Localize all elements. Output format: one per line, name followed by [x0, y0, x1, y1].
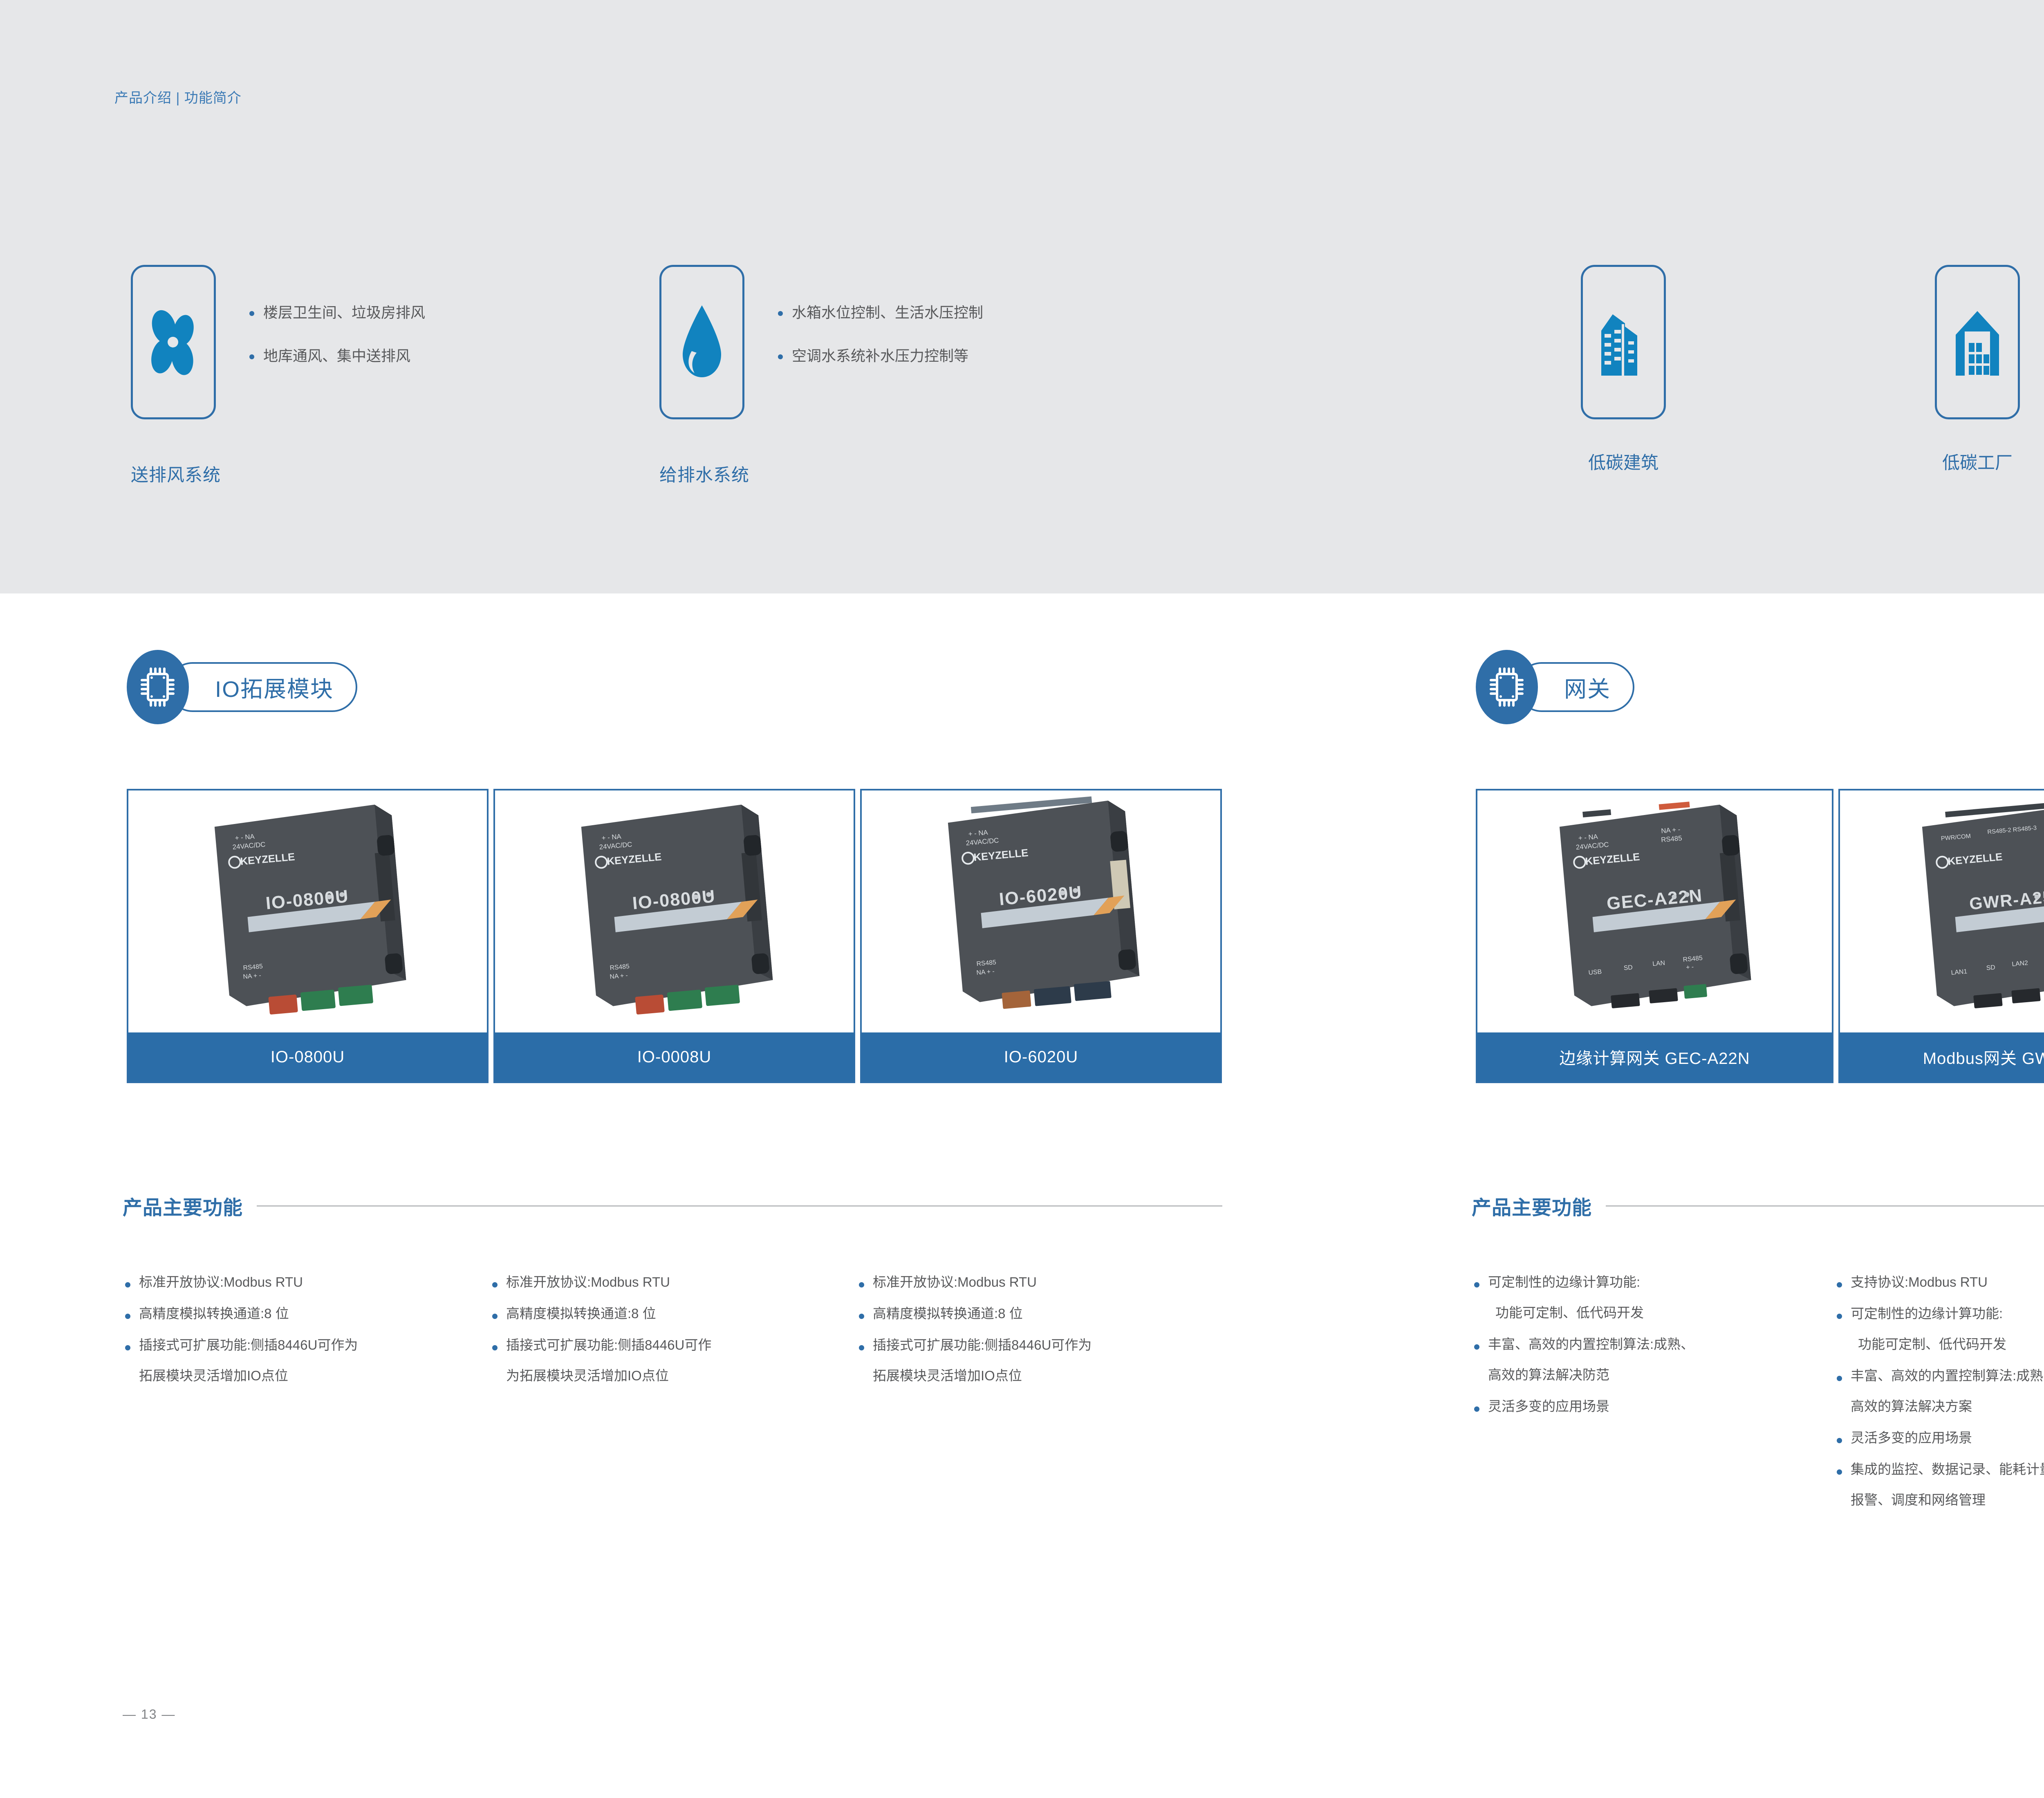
list-item: 标准开放协议:Modbus RTU: [490, 1275, 858, 1289]
list-item: 标准开放协议:Modbus RTU: [123, 1275, 491, 1289]
list-item: 高精度模拟转换通道:8 位: [856, 1307, 1224, 1320]
office-building-icon: [1595, 305, 1652, 379]
ventilation-caption: 送排风系统: [131, 461, 221, 486]
device-illustration-io-6020u: + - NA 24VAC/DC IO-6020U RS485 NA + - KE…: [862, 790, 1220, 1032]
product-caption: IO-0008U: [495, 1032, 854, 1081]
application-block-ventilation: 楼层卫生间、垃圾房排风 地库通风、集中送排风: [131, 265, 425, 419]
features-title: 产品主要功能: [123, 1191, 243, 1220]
chip-icon: [139, 665, 177, 709]
list-item: 高精度模拟转换通道:8 位: [490, 1307, 858, 1320]
factory-icon: [1951, 305, 2004, 379]
features-heading-gateway: 产品主要功能: [1472, 1191, 2044, 1220]
features-title: 产品主要功能: [1472, 1191, 1592, 1220]
device-illustration-io-0800u: + - NA 24VAC/DC IO-0800U RS485 NA + - KE…: [128, 790, 487, 1032]
svg-text:LAN: LAN: [1652, 960, 1665, 968]
product-card[interactable]: PWR/COM RS485-2 RS485-3 GWR-A25N LAN1 SD…: [1838, 789, 2044, 1083]
chip-icon-circle: [127, 650, 189, 724]
fan-icon-frame: [131, 265, 216, 419]
list-item: 灵活多变的应用场景: [1472, 1399, 1831, 1413]
scenario-caption: 低碳工厂: [1935, 449, 2020, 474]
device-illustration-gwr-a25n: PWR/COM RS485-2 RS485-3 GWR-A25N LAN1 SD…: [1840, 790, 2044, 1032]
svg-text:SD: SD: [1986, 964, 1995, 972]
product-card[interactable]: + - NA 24VAC/DC NA + - RS485 GEC-A22N US…: [1476, 789, 1833, 1083]
list-item: 地库通风、集中送排风: [246, 346, 425, 366]
product-image: + - NA 24VAC/DC IO-0800U RS485 NA + - KE…: [128, 790, 487, 1032]
list-item: 插接式可扩展功能:侧插8446U可作 为拓展模块灵活增加IO点位: [490, 1338, 858, 1382]
list-item: 集成的监控、数据记录、能耗计量、 报警、调度和网络管理: [1834, 1462, 2044, 1507]
product-card[interactable]: + - NA 24VAC/DC IO-0800U RS485 NA + - KE…: [493, 789, 855, 1083]
product-image: PWR/COM RS485-2 RS485-3 GWR-A25N LAN1 SD…: [1840, 790, 2044, 1032]
features-column: 标准开放协议:Modbus RTU 高精度模拟转换通道:8 位 插接式可扩展功能…: [123, 1275, 491, 1400]
device-illustration-io-0008u: + - NA 24VAC/DC IO-0800U RS485 NA + - KE…: [495, 790, 854, 1032]
features-column: 标准开放协议:Modbus RTU 高精度模拟转换通道:8 位 插接式可扩展功能…: [490, 1275, 858, 1400]
list-item: 空调水系统补水压力控制等: [775, 346, 983, 366]
page-number-left: — 13 —: [123, 1707, 175, 1722]
office-building-icon-frame: [1581, 265, 1666, 419]
running-header-left: 产品介绍 | 功能简介: [114, 87, 242, 107]
section-badge-label: 网关: [1564, 671, 1611, 703]
product-caption: 边缘计算网关 GEC-A22N: [1477, 1032, 1832, 1081]
list-item: 丰富、高效的内置控制算法:成熟、 高效的算法解决防范: [1472, 1337, 1831, 1382]
factory-icon-frame: [1935, 265, 2020, 419]
product-image: + - NA 24VAC/DC IO-6020U RS485 NA + - KE…: [862, 790, 1220, 1032]
section-badge-gateway: 网关: [1476, 650, 1729, 724]
water-drop-icon: [675, 301, 728, 383]
svg-text:LAN2: LAN2: [2012, 960, 2028, 968]
list-item: 高精度模拟转换通道:8 位: [123, 1307, 491, 1320]
list-item: 丰富、高效的内置控制算法:成熟、 高效的算法解决方案: [1834, 1369, 2044, 1413]
device-illustration-gec-a22n: + - NA 24VAC/DC NA + - RS485 GEC-A22N US…: [1477, 790, 1832, 1032]
product-caption: IO-6020U: [862, 1032, 1220, 1081]
chip-icon: [1488, 665, 1526, 709]
section-badge-io: IO拓展模块: [127, 650, 433, 724]
product-caption: Modbus网关 GWR-A25N: [1840, 1032, 2044, 1081]
list-item: 灵活多变的应用场景: [1834, 1431, 2044, 1444]
product-card[interactable]: + - NA 24VAC/DC IO-0800U RS485 NA + - KE…: [127, 789, 489, 1083]
scenario-caption: 低碳建筑: [1581, 449, 1666, 474]
features-column: 标准开放协议:Modbus RTU 高精度模拟转换通道:8 位 插接式可扩展功能…: [856, 1275, 1224, 1400]
product-image: + - NA 24VAC/DC NA + - RS485 GEC-A22N US…: [1477, 790, 1832, 1032]
scenario-block-factory: 低碳工厂: [1935, 265, 2020, 474]
list-item: 插接式可扩展功能:侧插8446U可作为 拓展模块灵活增加IO点位: [123, 1338, 491, 1382]
svg-text:USB: USB: [1588, 968, 1602, 976]
svg-text:SD: SD: [1623, 964, 1633, 972]
list-item: 标准开放协议:Modbus RTU: [856, 1275, 1224, 1289]
section-badge-pill-io: IO拓展模块: [168, 662, 357, 712]
svg-text:LAN1: LAN1: [1951, 968, 1968, 976]
features-heading-io: 产品主要功能: [123, 1191, 1222, 1220]
water-drop-icon-frame: [659, 265, 744, 419]
fan-icon: [143, 303, 204, 381]
product-caption: IO-0800U: [128, 1032, 487, 1081]
list-item: 可定制性的边缘计算功能: 功能可定制、低代码开发: [1472, 1275, 1831, 1319]
list-item: 插接式可扩展功能:侧插8446U可作为 拓展模块灵活增加IO点位: [856, 1338, 1224, 1382]
features-column: 可定制性的边缘计算功能: 功能可定制、低代码开发 丰富、高效的内置控制算法:成熟…: [1472, 1275, 1831, 1431]
list-item: 水箱水位控制、生活水压控制: [775, 302, 983, 323]
ventilation-bullet-list: 楼层卫生间、垃圾房排风 地库通风、集中送排风: [246, 265, 425, 390]
application-block-water: 水箱水位控制、生活水压控制 空调水系统补水压力控制等: [659, 265, 983, 419]
list-item: 可定制性的边缘计算功能: 功能可定制、低代码开发: [1834, 1307, 2044, 1351]
heading-rule: [257, 1205, 1222, 1207]
list-item: 楼层卫生间、垃圾房排风: [246, 302, 425, 323]
list-item: 支持协议:Modbus RTU: [1834, 1275, 2044, 1289]
svg-text:+ -: + -: [1686, 963, 1694, 971]
water-bullet-list: 水箱水位控制、生活水压控制 空调水系统补水压力控制等: [775, 265, 983, 390]
water-caption: 给排水系统: [659, 461, 749, 486]
scenario-block-building: 低碳建筑: [1581, 265, 1666, 474]
product-card[interactable]: + - NA 24VAC/DC IO-6020U RS485 NA + - KE…: [860, 789, 1222, 1083]
product-image: + - NA 24VAC/DC IO-0800U RS485 NA + - KE…: [495, 790, 854, 1032]
chip-icon-circle: [1476, 650, 1538, 724]
features-column: 支持协议:Modbus RTU 可定制性的边缘计算功能: 功能可定制、低代码开发…: [1834, 1275, 2044, 1525]
section-badge-label: IO拓展模块: [215, 671, 334, 703]
heading-rule: [1606, 1205, 2044, 1207]
